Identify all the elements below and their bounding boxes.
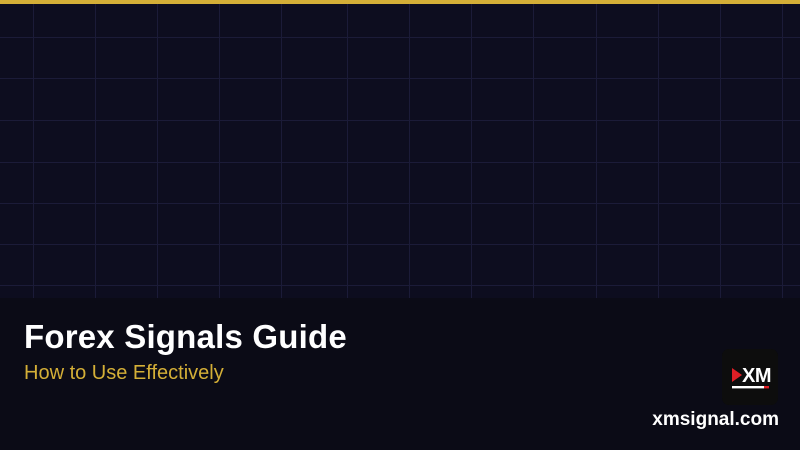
candle-body	[273, 177, 295, 188]
candle-body	[350, 184, 372, 190]
candle-body	[580, 179, 602, 188]
candle-body	[733, 179, 755, 183]
candle-body	[452, 231, 474, 246]
candle-body	[30, 209, 52, 214]
candle-body	[503, 176, 525, 180]
page-title: Forex Signals Guide	[24, 318, 347, 356]
candle-body	[465, 178, 487, 183]
candle-body	[426, 175, 448, 182]
candlestick-series-layer	[0, 4, 800, 298]
candle-body	[311, 188, 333, 194]
candle-body	[388, 175, 410, 184]
candle-wick	[615, 252, 617, 272]
candle-body	[184, 211, 206, 216]
candle-body	[68, 205, 90, 212]
candlestick-chart-panel	[0, 4, 800, 298]
svg-text:XM: XM	[742, 365, 771, 387]
candle-body	[107, 199, 129, 203]
candle-body	[490, 249, 512, 262]
candle-body	[337, 236, 359, 243]
candle-body	[299, 234, 321, 240]
candle-body	[605, 264, 627, 269]
candle-body	[618, 187, 640, 191]
candle-body	[529, 261, 551, 268]
page-subtitle: How to Use Effectively	[24, 362, 224, 385]
candle-body	[567, 263, 589, 270]
candle-body	[694, 178, 716, 188]
candle-body	[771, 176, 793, 184]
candle-body	[222, 210, 244, 228]
candle-body	[414, 235, 436, 240]
candle-body	[720, 254, 742, 264]
site-url[interactable]: xmsignal.com	[0, 409, 779, 431]
xm-logo[interactable]: XM	[722, 349, 778, 405]
candle-body	[644, 263, 666, 271]
candle-body	[375, 234, 397, 239]
banner-root: Forex Signals Guide How to Use Effective…	[0, 0, 800, 450]
candle-body	[145, 204, 167, 213]
candle-body	[656, 186, 678, 191]
candle-body	[260, 226, 282, 236]
candle-body	[682, 263, 704, 271]
candle-body	[541, 174, 563, 180]
candle-body	[758, 251, 780, 257]
